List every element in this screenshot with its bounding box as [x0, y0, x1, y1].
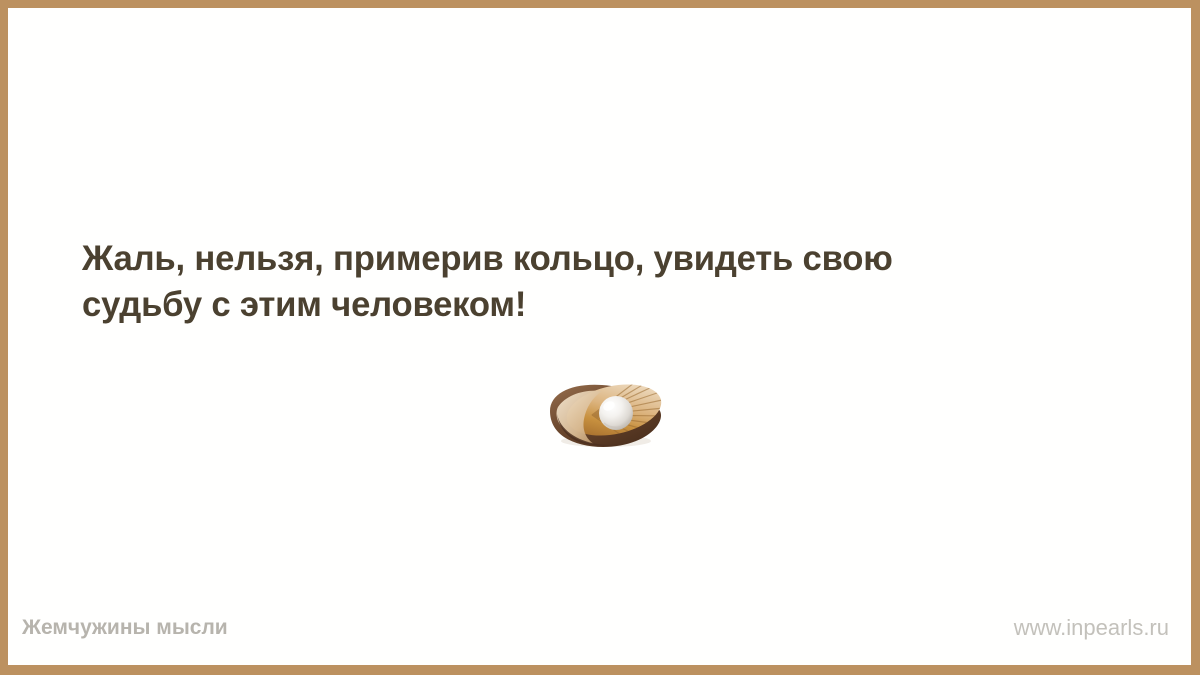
- card-canvas: Жаль, нельзя, примерив кольцо, увидеть с…: [8, 8, 1191, 665]
- quote-card: Жаль, нельзя, примерив кольцо, увидеть с…: [0, 0, 1200, 675]
- pearl: [599, 396, 633, 430]
- site-url[interactable]: www.inpearls.ru: [1014, 613, 1169, 643]
- oyster-shell-with-pearl-icon: [544, 381, 668, 449]
- site-name: Жемчужины мысли: [22, 613, 228, 643]
- footer: Жемчужины мысли www.inpearls.ru: [8, 613, 1191, 643]
- shell-graphic: [544, 381, 668, 449]
- quote-line-1: Жаль, нельзя, примерив кольцо, увидеть с…: [82, 236, 1122, 282]
- quote-text: Жаль, нельзя, примерив кольцо, увидеть с…: [82, 236, 1132, 328]
- quote-line-2: судьбу с этим человеком!: [82, 282, 1122, 328]
